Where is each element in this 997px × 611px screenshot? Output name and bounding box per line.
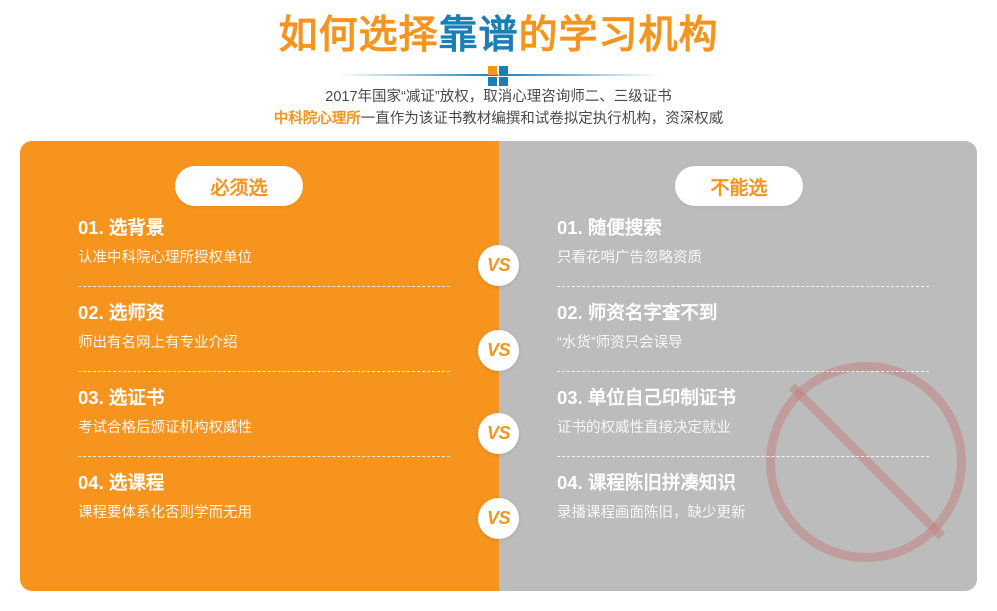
square-grid-ornament-icon xyxy=(488,66,508,86)
list-item-number: 01. xyxy=(78,217,104,238)
list-must-choose: 01. 选背景 认准中科院心理所授权单位 02. 选师资 师出有名网上有专业介绍 xyxy=(78,215,450,555)
list-item-number: 02. xyxy=(557,302,583,323)
list-item-number: 04. xyxy=(78,472,104,493)
list-item-heading: 随便搜索 xyxy=(588,217,662,238)
infographic-page: 如何选择靠谱的学习机构 2017年国家“减证”放权，取消心理咨询师二、三级证书 … xyxy=(0,0,997,611)
list-item-title: 01. 选背景 xyxy=(78,215,450,240)
list-item: 01. 选背景 认准中科院心理所授权单位 xyxy=(78,215,450,300)
list-item: 04. 课程陈旧拼凑知识 录播课程画面陈旧，缺少更新 xyxy=(557,470,929,555)
vs-badge: VS xyxy=(478,330,519,371)
list-item-subtitle: 录播课程画面陈旧，缺少更新 xyxy=(557,502,929,524)
divider-line-left xyxy=(338,74,498,76)
list-item-heading: 选师资 xyxy=(109,302,165,323)
list-item-title: 04. 课程陈旧拼凑知识 xyxy=(557,470,929,495)
list-item-heading: 选背景 xyxy=(109,217,165,238)
list-item-subtitle: 只看花哨广告忽略资质 xyxy=(557,247,929,269)
vs-badge: VS xyxy=(478,413,519,454)
subtitle-line-2-highlight: 中科院心理所 xyxy=(274,111,361,127)
title-divider xyxy=(0,64,997,86)
list-item-subtitle: “水货”师资只会误导 xyxy=(557,332,929,354)
subtitle: 2017年国家“减证”放权，取消心理咨询师二、三级证书 中科院心理所一直作为该证… xyxy=(0,86,997,130)
list-item-subtitle: 认准中科院心理所授权单位 xyxy=(78,247,450,269)
list-item-title: 03. 选证书 xyxy=(78,385,450,410)
badge-cannot-choose: 不能选 xyxy=(675,166,803,206)
list-item: 01. 随便搜索 只看花哨广告忽略资质 xyxy=(557,215,929,300)
list-item-subtitle: 师出有名网上有专业介绍 xyxy=(78,332,450,354)
vs-badge: VS xyxy=(478,498,519,539)
list-item-divider xyxy=(557,456,929,457)
list-item-title: 04. 选课程 xyxy=(78,470,450,495)
list-item: 02. 选师资 师出有名网上有专业介绍 xyxy=(78,300,450,385)
panel-cannot-choose: 不能选 01. 随便搜索 只看花哨广告忽略资质 02. 师资名字查不到 “水货”… xyxy=(499,141,977,591)
list-item-divider xyxy=(78,286,450,287)
subtitle-line-2: 中科院心理所一直作为该证书教材编撰和试卷拟定执行机构，资深权威 xyxy=(0,108,997,130)
divider-line-right xyxy=(499,74,659,76)
square-bottom-right xyxy=(499,77,508,86)
comparison-panels: 必须选 01. 选背景 认准中科院心理所授权单位 02. 选师资 师出有名网上有… xyxy=(20,141,977,591)
list-item-title: 02. 师资名字查不到 xyxy=(557,300,929,325)
list-item-subtitle: 课程要体系化否则学而无用 xyxy=(78,502,450,524)
title-part-2: 的学习机构 xyxy=(519,14,719,57)
header: 如何选择靠谱的学习机构 2017年国家“减证”放权，取消心理咨询师二、三级证书 … xyxy=(0,0,997,136)
list-item-divider xyxy=(78,371,450,372)
list-item-heading: 选课程 xyxy=(109,472,165,493)
list-item-heading: 师资名字查不到 xyxy=(588,302,718,323)
list-item: 03. 选证书 考试合格后颁证机构权威性 xyxy=(78,385,450,470)
list-item-divider xyxy=(78,456,450,457)
list-item-subtitle: 考试合格后颁证机构权威性 xyxy=(78,417,450,439)
list-item-heading: 选证书 xyxy=(109,387,165,408)
list-item-subtitle: 证书的权威性直接决定就业 xyxy=(557,417,929,439)
subtitle-line-2-rest: 一直作为该证书教材编撰和试卷拟定执行机构，资深权威 xyxy=(361,111,724,127)
square-bottom-left xyxy=(488,77,497,86)
list-item: 03. 单位自己印制证书 证书的权威性直接决定就业 xyxy=(557,385,929,470)
list-item-number: 01. xyxy=(557,217,583,238)
list-item-title: 01. 随便搜索 xyxy=(557,215,929,240)
square-top-left xyxy=(488,66,497,75)
subtitle-line-1: 2017年国家“减证”放权，取消心理咨询师二、三级证书 xyxy=(0,86,997,108)
list-item-divider xyxy=(557,371,929,372)
title-part-1: 如何选择 xyxy=(278,14,438,57)
list-item-title: 03. 单位自己印制证书 xyxy=(557,385,929,410)
list-item-divider xyxy=(557,286,929,287)
list-item-number: 02. xyxy=(78,302,104,323)
panel-must-choose: 必须选 01. 选背景 认准中科院心理所授权单位 02. 选师资 师出有名网上有… xyxy=(20,141,499,591)
list-item: 02. 师资名字查不到 “水货”师资只会误导 xyxy=(557,300,929,385)
vs-badge: VS xyxy=(478,245,519,286)
list-item-heading: 课程陈旧拼凑知识 xyxy=(588,472,736,493)
page-title: 如何选择靠谱的学习机构 xyxy=(0,11,997,61)
list-item-number: 03. xyxy=(78,387,104,408)
list-item-title: 02. 选师资 xyxy=(78,300,450,325)
list-item-number: 03. xyxy=(557,387,583,408)
title-highlight: 靠谱 xyxy=(438,14,518,57)
square-top-right xyxy=(499,66,508,75)
list-item: 04. 选课程 课程要体系化否则学而无用 xyxy=(78,470,450,555)
list-cannot-choose: 01. 随便搜索 只看花哨广告忽略资质 02. 师资名字查不到 “水货”师资只会… xyxy=(557,215,929,555)
list-item-heading: 单位自己印制证书 xyxy=(588,387,736,408)
badge-must-choose: 必须选 xyxy=(175,166,303,206)
list-item-number: 04. xyxy=(557,472,583,493)
